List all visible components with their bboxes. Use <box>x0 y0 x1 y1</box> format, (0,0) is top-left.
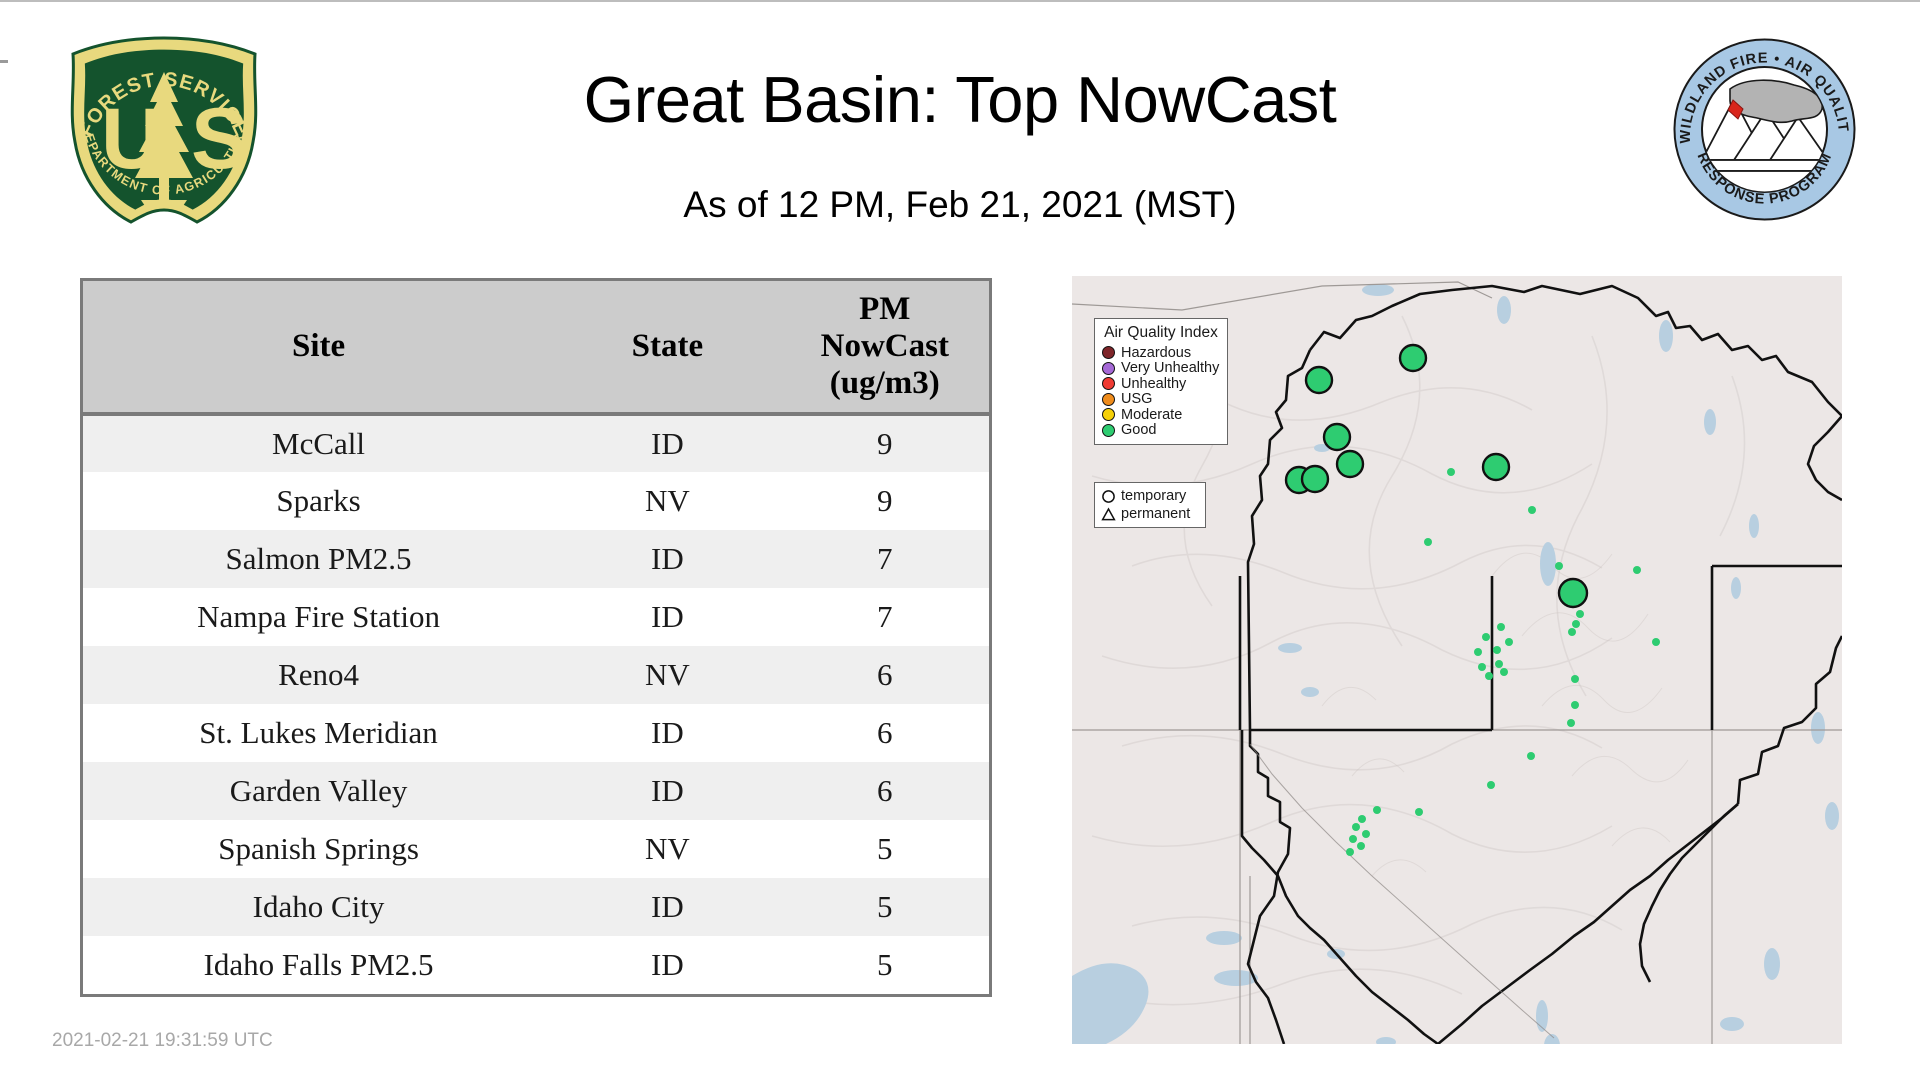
monitor-dot-small[interactable] <box>1571 675 1579 683</box>
legend-permanent-row: permanent <box>1101 505 1199 523</box>
aqi-legend-row: Moderate <box>1102 407 1220 423</box>
monitor-dot-small[interactable] <box>1358 815 1366 823</box>
state-cell: ID <box>554 704 781 762</box>
monitor-dot-small[interactable] <box>1505 638 1513 646</box>
nowcast-table-container: Site State PM NowCast (ug/m3) McCallID9S… <box>80 278 992 997</box>
table-row[interactable]: McCallID9 <box>83 414 989 472</box>
pm-header-line-2: NowCast <box>785 328 985 365</box>
pm-header-line-1: PM <box>785 291 985 328</box>
great-basin-map[interactable]: Air Quality Index HazardousVery Unhealth… <box>1072 276 1842 1044</box>
monitor-type-legend: temporary permanent <box>1094 482 1206 528</box>
monitor-dot-highlighted[interactable] <box>1306 367 1332 393</box>
monitor-dot-small[interactable] <box>1485 672 1493 680</box>
monitor-dot-highlighted[interactable] <box>1483 454 1509 480</box>
aqi-legend-items: HazardousVery UnhealthyUnhealthyUSGModer… <box>1102 345 1220 438</box>
monitor-dot-small[interactable] <box>1424 538 1432 546</box>
nowcast-table: Site State PM NowCast (ug/m3) McCallID9S… <box>83 281 989 994</box>
monitor-dot-small[interactable] <box>1362 830 1370 838</box>
legend-temporary-label: temporary <box>1121 489 1186 504</box>
column-header-site[interactable]: Site <box>83 281 554 414</box>
monitor-dot-small[interactable] <box>1555 562 1563 570</box>
generated-timestamp: 2021-02-21 19:31:59 UTC <box>52 1030 273 1052</box>
pm-nowcast-cell: 9 <box>781 414 989 472</box>
monitor-dot-small[interactable] <box>1349 835 1357 843</box>
monitor-dot-highlighted[interactable] <box>1400 345 1426 371</box>
monitor-dot-small[interactable] <box>1528 506 1536 514</box>
pm-nowcast-cell: 5 <box>781 878 989 936</box>
pm-nowcast-cell: 6 <box>781 762 989 820</box>
monitor-dot-small[interactable] <box>1357 842 1365 850</box>
state-cell: ID <box>554 530 781 588</box>
site-cell: St. Lukes Meridian <box>83 704 554 762</box>
monitor-dot-small[interactable] <box>1633 566 1641 574</box>
page-edge-mark <box>0 60 8 63</box>
table-row[interactable]: St. Lukes MeridianID6 <box>83 704 989 762</box>
site-cell: Reno4 <box>83 646 554 704</box>
monitor-dot-highlighted[interactable] <box>1302 466 1328 492</box>
aqi-swatch-icon <box>1102 424 1115 437</box>
monitor-dot-highlighted[interactable] <box>1324 424 1350 450</box>
monitor-dot-highlighted[interactable] <box>1559 579 1587 607</box>
monitor-dot-small[interactable] <box>1493 646 1501 654</box>
site-cell: McCall <box>83 414 554 472</box>
monitor-dot-small[interactable] <box>1478 663 1486 671</box>
report-page: FOREST SERVICE DEPARTMENT OF AGRICULTURE… <box>0 0 1920 1080</box>
aqi-legend-label: Good <box>1121 423 1156 438</box>
aqi-legend-label: Moderate <box>1121 408 1182 423</box>
state-cell: ID <box>554 414 781 472</box>
aqi-swatch-icon <box>1102 346 1115 359</box>
monitor-dot-small[interactable] <box>1346 848 1354 856</box>
site-cell: Spanish Springs <box>83 820 554 878</box>
monitor-dot-small[interactable] <box>1482 633 1490 641</box>
pm-nowcast-cell: 6 <box>781 704 989 762</box>
table-row[interactable]: Spanish SpringsNV5 <box>83 820 989 878</box>
table-header-row: Site State PM NowCast (ug/m3) <box>83 281 989 414</box>
site-cell: Idaho City <box>83 878 554 936</box>
table-row[interactable]: SparksNV9 <box>83 472 989 530</box>
table-row[interactable]: Salmon PM2.5ID7 <box>83 530 989 588</box>
wildland-fire-air-quality-logo: WILDLAND FIRE • AIR QUALITY RESPONSE PRO… <box>1672 37 1857 222</box>
table-header: Site State PM NowCast (ug/m3) <box>83 281 989 414</box>
monitor-dot-small[interactable] <box>1447 468 1455 476</box>
site-cell: Nampa Fire Station <box>83 588 554 646</box>
state-cell: ID <box>554 878 781 936</box>
aqi-swatch-icon <box>1102 408 1115 421</box>
legend-temporary-row: temporary <box>1101 487 1199 505</box>
fs-logo-letter-s: S <box>191 91 248 187</box>
aqi-legend-row: USG <box>1102 392 1220 408</box>
state-cell: ID <box>554 936 781 994</box>
monitor-dot-small[interactable] <box>1474 648 1482 656</box>
page-subtitle: As of 12 PM, Feb 21, 2021 (MST) <box>330 184 1590 226</box>
aqi-swatch-icon <box>1102 377 1115 390</box>
table-row[interactable]: Idaho Falls PM2.5ID5 <box>83 936 989 994</box>
state-cell: ID <box>554 762 781 820</box>
monitor-dot-small[interactable] <box>1500 668 1508 676</box>
monitor-dot-small[interactable] <box>1497 623 1505 631</box>
pm-nowcast-cell: 5 <box>781 936 989 994</box>
pm-nowcast-cell: 9 <box>781 472 989 530</box>
forest-service-logo: FOREST SERVICE DEPARTMENT OF AGRICULTURE… <box>57 32 272 232</box>
aqi-legend-row: Good <box>1102 423 1220 439</box>
monitor-dot-highlighted[interactable] <box>1337 451 1363 477</box>
aqi-legend-row: Unhealthy <box>1102 376 1220 392</box>
state-cell: ID <box>554 588 781 646</box>
monitor-dot-small[interactable] <box>1527 752 1535 760</box>
pm-header-line-3: (ug/m3) <box>785 365 985 402</box>
site-cell: Garden Valley <box>83 762 554 820</box>
monitor-dot-small[interactable] <box>1373 806 1381 814</box>
monitor-dot-small[interactable] <box>1572 620 1580 628</box>
table-body: McCallID9SparksNV9Salmon PM2.5ID7Nampa F… <box>83 414 989 994</box>
state-cell: NV <box>554 820 781 878</box>
table-row[interactable]: Nampa Fire StationID7 <box>83 588 989 646</box>
monitor-dot-small[interactable] <box>1352 823 1360 831</box>
monitor-dot-small[interactable] <box>1567 719 1575 727</box>
aqi-legend-row: Very Unhealthy <box>1102 361 1220 377</box>
pm-nowcast-cell: 5 <box>781 820 989 878</box>
monitor-dot-small[interactable] <box>1652 638 1660 646</box>
state-cell: NV <box>554 472 781 530</box>
pm-nowcast-cell: 7 <box>781 588 989 646</box>
site-cell: Sparks <box>83 472 554 530</box>
aqi-legend-label: Hazardous <box>1121 346 1191 361</box>
pm-nowcast-cell: 6 <box>781 646 989 704</box>
page-title: Great Basin: Top NowCast <box>330 62 1590 137</box>
column-header-pm-nowcast[interactable]: PM NowCast (ug/m3) <box>781 281 989 414</box>
aqi-swatch-icon <box>1102 362 1115 375</box>
aqi-legend-title: Air Quality Index <box>1102 324 1220 342</box>
table-row[interactable]: Garden ValleyID6 <box>83 762 989 820</box>
legend-permanent-label: permanent <box>1121 507 1190 522</box>
monitor-dot-small[interactable] <box>1495 660 1503 668</box>
monitor-dot-small[interactable] <box>1571 701 1579 709</box>
aqi-legend: Air Quality Index HazardousVery Unhealth… <box>1094 318 1228 445</box>
aqi-legend-label: Unhealthy <box>1121 377 1186 392</box>
site-cell: Salmon PM2.5 <box>83 530 554 588</box>
monitor-dot-small[interactable] <box>1568 628 1576 636</box>
state-cell: NV <box>554 646 781 704</box>
monitor-dot-small[interactable] <box>1487 781 1495 789</box>
aqi-legend-label: Very Unhealthy <box>1121 361 1219 376</box>
pm-nowcast-cell: 7 <box>781 530 989 588</box>
column-header-state[interactable]: State <box>554 281 781 414</box>
aqi-swatch-icon <box>1102 393 1115 406</box>
table-row[interactable]: Idaho CityID5 <box>83 878 989 936</box>
triangle-icon <box>1101 507 1116 522</box>
site-cell: Idaho Falls PM2.5 <box>83 936 554 994</box>
table-row[interactable]: Reno4NV6 <box>83 646 989 704</box>
aqi-legend-label: USG <box>1121 392 1152 407</box>
aqi-legend-row: Hazardous <box>1102 345 1220 361</box>
monitor-dot-small[interactable] <box>1576 610 1584 618</box>
circle-icon <box>1101 489 1116 504</box>
monitor-dot-small[interactable] <box>1415 808 1423 816</box>
